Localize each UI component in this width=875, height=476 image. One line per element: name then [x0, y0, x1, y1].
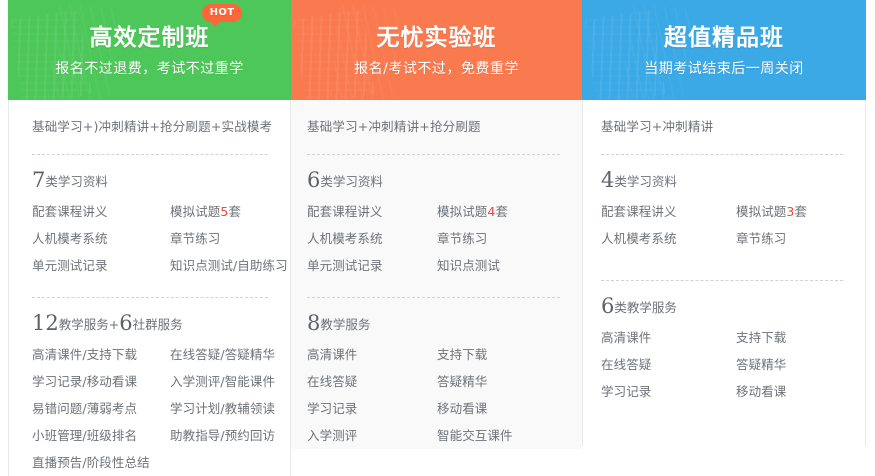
list-item: 学习记录 — [307, 395, 437, 422]
list-item: 答疑精华 — [437, 368, 568, 395]
materials-count-2: 6 — [307, 168, 320, 192]
plan-lead-3: 基础学习+冲刺精讲 — [601, 118, 851, 136]
materials-list-1: 配套课程讲义 模拟试题5套 人机模考系统 章节练习 单元测试记录 知识点测试/自… — [32, 198, 276, 279]
list-item: 单元测试记录 — [32, 252, 170, 279]
materials-list-2: 配套课程讲义 模拟试题4套 人机模考系统 章节练习 单元测试记录 知识点测试 — [307, 198, 568, 279]
divider-3a — [601, 154, 843, 155]
list-item: 支持下载 — [736, 324, 851, 351]
list-item-highlight: 模拟试题3套 — [736, 198, 851, 225]
plan-subtitle-3: 当期考试结束后一周关闭 — [582, 60, 866, 78]
list-item: 在线答疑/答疑精华 — [170, 341, 276, 368]
list-item: 移动看课 — [736, 378, 851, 405]
list-item: 支持下载 — [437, 341, 568, 368]
list-item: 章节练习 — [170, 225, 288, 252]
services-list-1: 高清课件/支持下载 在线答疑/答疑精华 学习记录/移动看课 入学测评/智能课件 … — [32, 341, 276, 476]
divider-2a — [307, 154, 560, 155]
hot-badge-icon: HOT — [202, 4, 242, 22]
list-item: 答疑精华 — [736, 351, 851, 378]
plan-header-2: 无忧实验班 报名/考试不过，免费重学 — [291, 0, 582, 100]
list-item: 人机模考系统 — [601, 225, 736, 252]
list-item: 小班管理/班级排名 — [32, 422, 170, 449]
plan-subtitle-1: 报名不过退费，考试不过重学 — [8, 60, 291, 78]
materials-label-3: 类学习资料 — [614, 174, 677, 189]
plan-title-1: 高效定制班 HOT — [90, 23, 210, 53]
plan-lead-2: 基础学习+冲刺精讲+抢分刷题 — [307, 118, 568, 136]
list-item: 学习记录/移动看课 — [32, 368, 170, 395]
plan-body-1: 基础学习+)冲刺精讲+抢分刷题+实战模考 7类学习资料 配套课程讲义 模拟试题5… — [8, 100, 291, 476]
plan-title-2: 无忧实验班 — [377, 23, 497, 53]
list-item: 配套课程讲义 — [307, 198, 437, 225]
divider-3b — [601, 280, 843, 281]
services-count-1: 12 — [32, 311, 59, 335]
list-item: 易错问题/薄弱考点 — [32, 395, 170, 422]
list-item: 智能交互课件 — [437, 422, 568, 449]
services-count-3: 6 — [601, 294, 614, 318]
list-item: 高清课件 — [307, 341, 437, 368]
services-list-3: 高清课件 支持下载 在线答疑 答疑精华 学习记录 移动看课 — [601, 324, 851, 405]
services-heading-3: 6类教学服务 — [601, 294, 851, 320]
list-item: 移动看课 — [437, 395, 568, 422]
divider-1b — [32, 297, 268, 298]
list-item: 直播预告/阶段性总结 — [32, 449, 170, 476]
services-count-2: 8 — [307, 311, 320, 335]
list-item: 章节练习 — [736, 225, 851, 252]
list-item: 在线答疑 — [601, 351, 736, 378]
list-item-highlight: 模拟试题4套 — [437, 198, 568, 225]
divider-1a — [32, 154, 268, 155]
list-item: 章节练习 — [437, 225, 568, 252]
list-item: 知识点测试 — [437, 252, 568, 279]
plan-body-2: 基础学习+冲刺精讲+抢分刷题 6类学习资料 配套课程讲义 模拟试题4套 人机模考… — [291, 100, 582, 449]
plan-column-gaoxiao-dingzhi-ban[interactable]: 高效定制班 HOT 报名不过退费，考试不过重学 基础学习+)冲刺精讲+抢分刷题+… — [8, 0, 291, 446]
list-item: 助教指导/预约回访 — [170, 422, 276, 449]
plan-title-3: 超值精品班 — [664, 23, 784, 53]
divider-2b — [307, 297, 560, 298]
services-heading-1: 12教学服务+6社群服务 — [32, 311, 276, 337]
materials-count-3: 4 — [601, 168, 614, 192]
plan-column-chaozhi-jingpin-ban[interactable]: 超值精品班 当期考试结束后一周关闭 基础学习+冲刺精讲 4类学习资料 配套课程讲… — [582, 0, 866, 446]
list-item: 高清课件 — [601, 324, 736, 351]
materials-heading-3: 4类学习资料 — [601, 168, 851, 194]
plan-body-3: 基础学习+冲刺精讲 4类学习资料 配套课程讲义 模拟试题3套 人机模考系统 章节… — [582, 100, 866, 446]
materials-count-1: 7 — [32, 168, 45, 192]
plan-comparison: 高效定制班 HOT 报名不过退费，考试不过重学 基础学习+)冲刺精讲+抢分刷题+… — [0, 0, 875, 446]
services-heading-2: 8教学服务 — [307, 311, 568, 337]
list-item: 人机模考系统 — [32, 225, 170, 252]
list-item: 配套课程讲义 — [601, 198, 736, 225]
materials-label-1: 类学习资料 — [45, 174, 108, 189]
services-count2-1: 6 — [119, 311, 132, 335]
list-item-highlight: 模拟试题5套 — [170, 198, 288, 225]
list-item: 配套课程讲义 — [32, 198, 170, 225]
list-item: 入学测评 — [307, 422, 437, 449]
list-item: 入学测评/智能课件 — [170, 368, 276, 395]
plan-header-3: 超值精品班 当期考试结束后一周关闭 — [582, 0, 866, 100]
plan-column-wuyou-shiyan-ban[interactable]: 无忧实验班 报名/考试不过，免费重学 基础学习+冲刺精讲+抢分刷题 6类学习资料… — [291, 0, 582, 446]
materials-heading-1: 7类学习资料 — [32, 168, 276, 194]
list-item: 学习计划/教辅领读 — [170, 395, 276, 422]
plan-header-1: 高效定制班 HOT 报名不过退费，考试不过重学 — [8, 0, 291, 100]
list-item: 在线答疑 — [307, 368, 437, 395]
materials-list-3: 配套课程讲义 模拟试题3套 人机模考系统 章节练习 — [601, 198, 851, 252]
list-item: 知识点测试/自助练习 — [170, 252, 288, 279]
plan-subtitle-2: 报名/考试不过，免费重学 — [291, 60, 582, 78]
list-item: 高清课件/支持下载 — [32, 341, 170, 368]
plan-lead-1: 基础学习+)冲刺精讲+抢分刷题+实战模考 — [32, 118, 276, 136]
list-item: 学习记录 — [601, 378, 736, 405]
spacer — [601, 252, 851, 262]
list-item: 单元测试记录 — [307, 252, 437, 279]
materials-label-2: 类学习资料 — [320, 174, 383, 189]
list-item: 人机模考系统 — [307, 225, 437, 252]
materials-heading-2: 6类学习资料 — [307, 168, 568, 194]
services-list-2: 高清课件 支持下载 在线答疑 答疑精华 学习记录 移动看课 入学测评 智能交互课… — [307, 341, 568, 449]
